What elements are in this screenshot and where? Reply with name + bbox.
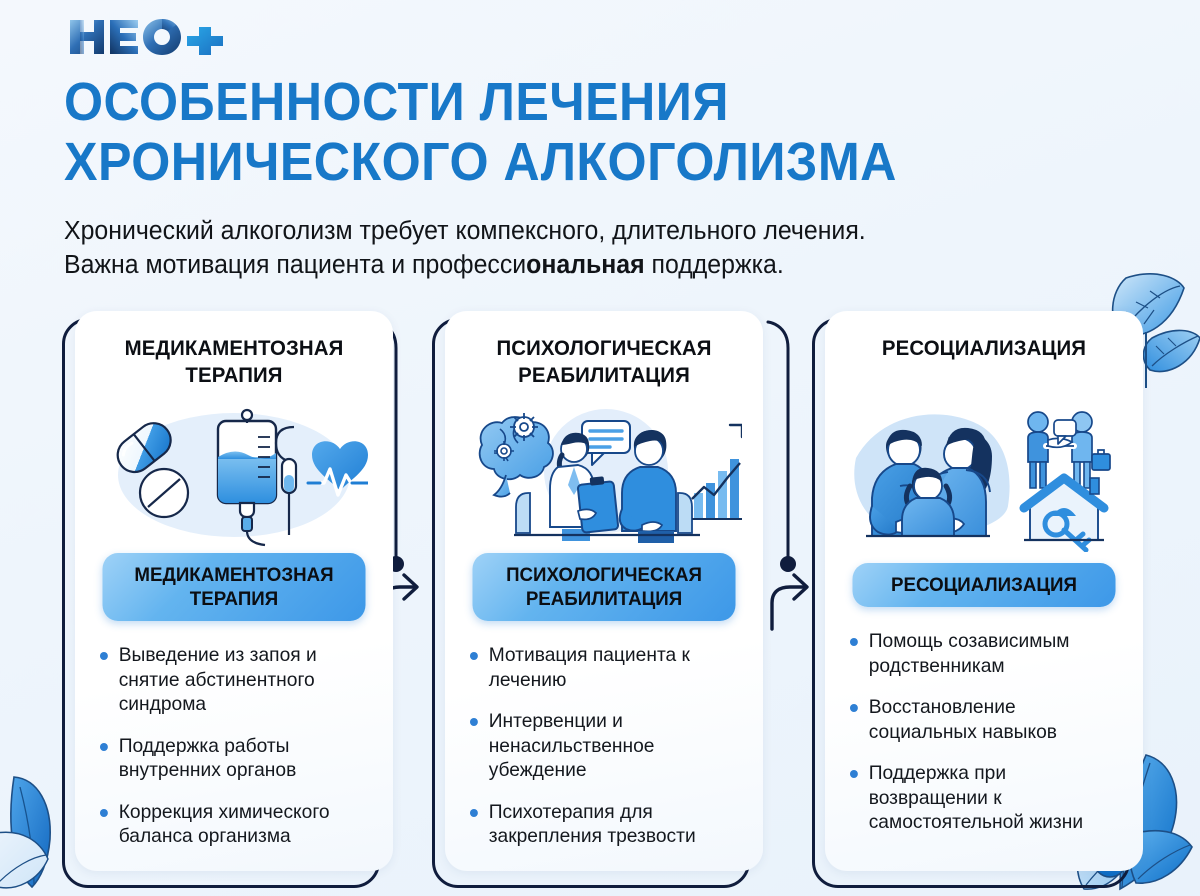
card-body: РЕСОЦИАЛИЗАЦИЯ bbox=[825, 311, 1143, 871]
page-subtitle-line2-part1: Важна мотивация пациента и професси bbox=[64, 251, 526, 279]
card-illustration-resocialization bbox=[843, 397, 1125, 557]
family-handshake-house-key-icon bbox=[848, 402, 1120, 552]
stage-card-medication[interactable]: МЕДИКАМЕНТОЗНАЯ ТЕРАПИЯ bbox=[62, 318, 380, 888]
list-item: Мотивация пациента к лечению bbox=[469, 643, 741, 692]
list-item: Помощь созависимым родственникам bbox=[849, 629, 1121, 678]
card-pill-label: МЕДИКАМЕНТОЗНАЯ ТЕРАПИЯ bbox=[102, 553, 365, 621]
card-body: ПСИХОЛОГИЧЕСКАЯ РЕАБИЛИТАЦИЯ bbox=[445, 311, 763, 871]
card-pill-label: РЕСОЦИАЛИЗАЦИЯ bbox=[852, 563, 1115, 607]
list-item: Психотерапия для закрепления трезвости bbox=[469, 800, 741, 849]
pills-iv-drip-heart-icon bbox=[100, 397, 368, 547]
list-item: Восстановление социальных навыков bbox=[849, 695, 1121, 744]
page-title-line1: ОСОБЕННОСТИ ЛЕЧЕНИЯ bbox=[64, 72, 729, 132]
therapist-patient-brain-chart-icon bbox=[466, 397, 742, 547]
list-item: Интервенции и ненасильственное убеждение bbox=[469, 709, 741, 783]
brand-logo[interactable] bbox=[66, 14, 236, 60]
page-subtitle-line2-part2: поддержка. bbox=[645, 251, 784, 279]
stage-card-psychological-rehab[interactable]: ПСИХОЛОГИЧЕСКАЯ РЕАБИЛИТАЦИЯ bbox=[432, 318, 750, 888]
card-body: МЕДИКАМЕНТОЗНАЯ ТЕРАПИЯ bbox=[75, 311, 393, 871]
list-item: Поддержка работы внутренних органов bbox=[99, 734, 371, 783]
card-pill-label: ПСИХОЛОГИЧЕСКАЯ РЕАБИЛИТАЦИЯ bbox=[472, 553, 735, 621]
page-subtitle: Хронический алкоголизм требует компексно… bbox=[64, 214, 1049, 282]
page-subtitle-line1: Хронический алкоголизм требует компексно… bbox=[64, 217, 866, 245]
card-bullet-list: Помощь созависимым родственникам Восстан… bbox=[849, 629, 1125, 852]
card-heading: ПСИХОЛОГИЧЕСКАЯ РЕАБИЛИТАЦИЯ bbox=[470, 335, 738, 389]
stage-card-resocialization[interactable]: РЕСОЦИАЛИЗАЦИЯ bbox=[812, 318, 1130, 888]
page-subtitle-emphasis: ональная bbox=[526, 251, 644, 279]
card-heading: МЕДИКАМЕНТОЗНАЯ ТЕРАПИЯ bbox=[100, 335, 368, 389]
card-illustration-therapy bbox=[463, 397, 745, 547]
page-title-line2: ХРОНИЧЕСКОГО АЛКОГОЛИЗМА bbox=[64, 132, 1068, 192]
list-item: Поддержка при возвращении к самостоятель… bbox=[849, 761, 1121, 835]
page-title: ОСОБЕННОСТИ ЛЕЧЕНИЯ ХРОНИЧЕСКОГО АЛКОГОЛ… bbox=[64, 72, 1068, 192]
card-bullet-list: Мотивация пациента к лечению Интервенции… bbox=[469, 643, 745, 866]
list-item: Коррекция химического баланса организма bbox=[99, 800, 371, 849]
list-item: Выведение из запоя и снятие абстинентног… bbox=[99, 643, 371, 717]
card-bullet-list: Выведение из запоя и снятие абстинентног… bbox=[99, 643, 375, 866]
card-illustration-medication bbox=[93, 397, 375, 547]
treatment-stages: МЕДИКАМЕНТОЗНАЯ ТЕРАПИЯ bbox=[0, 318, 1200, 896]
card-heading: РЕСОЦИАЛИЗАЦИЯ bbox=[850, 335, 1118, 389]
neo-plus-logo-icon bbox=[66, 14, 236, 60]
